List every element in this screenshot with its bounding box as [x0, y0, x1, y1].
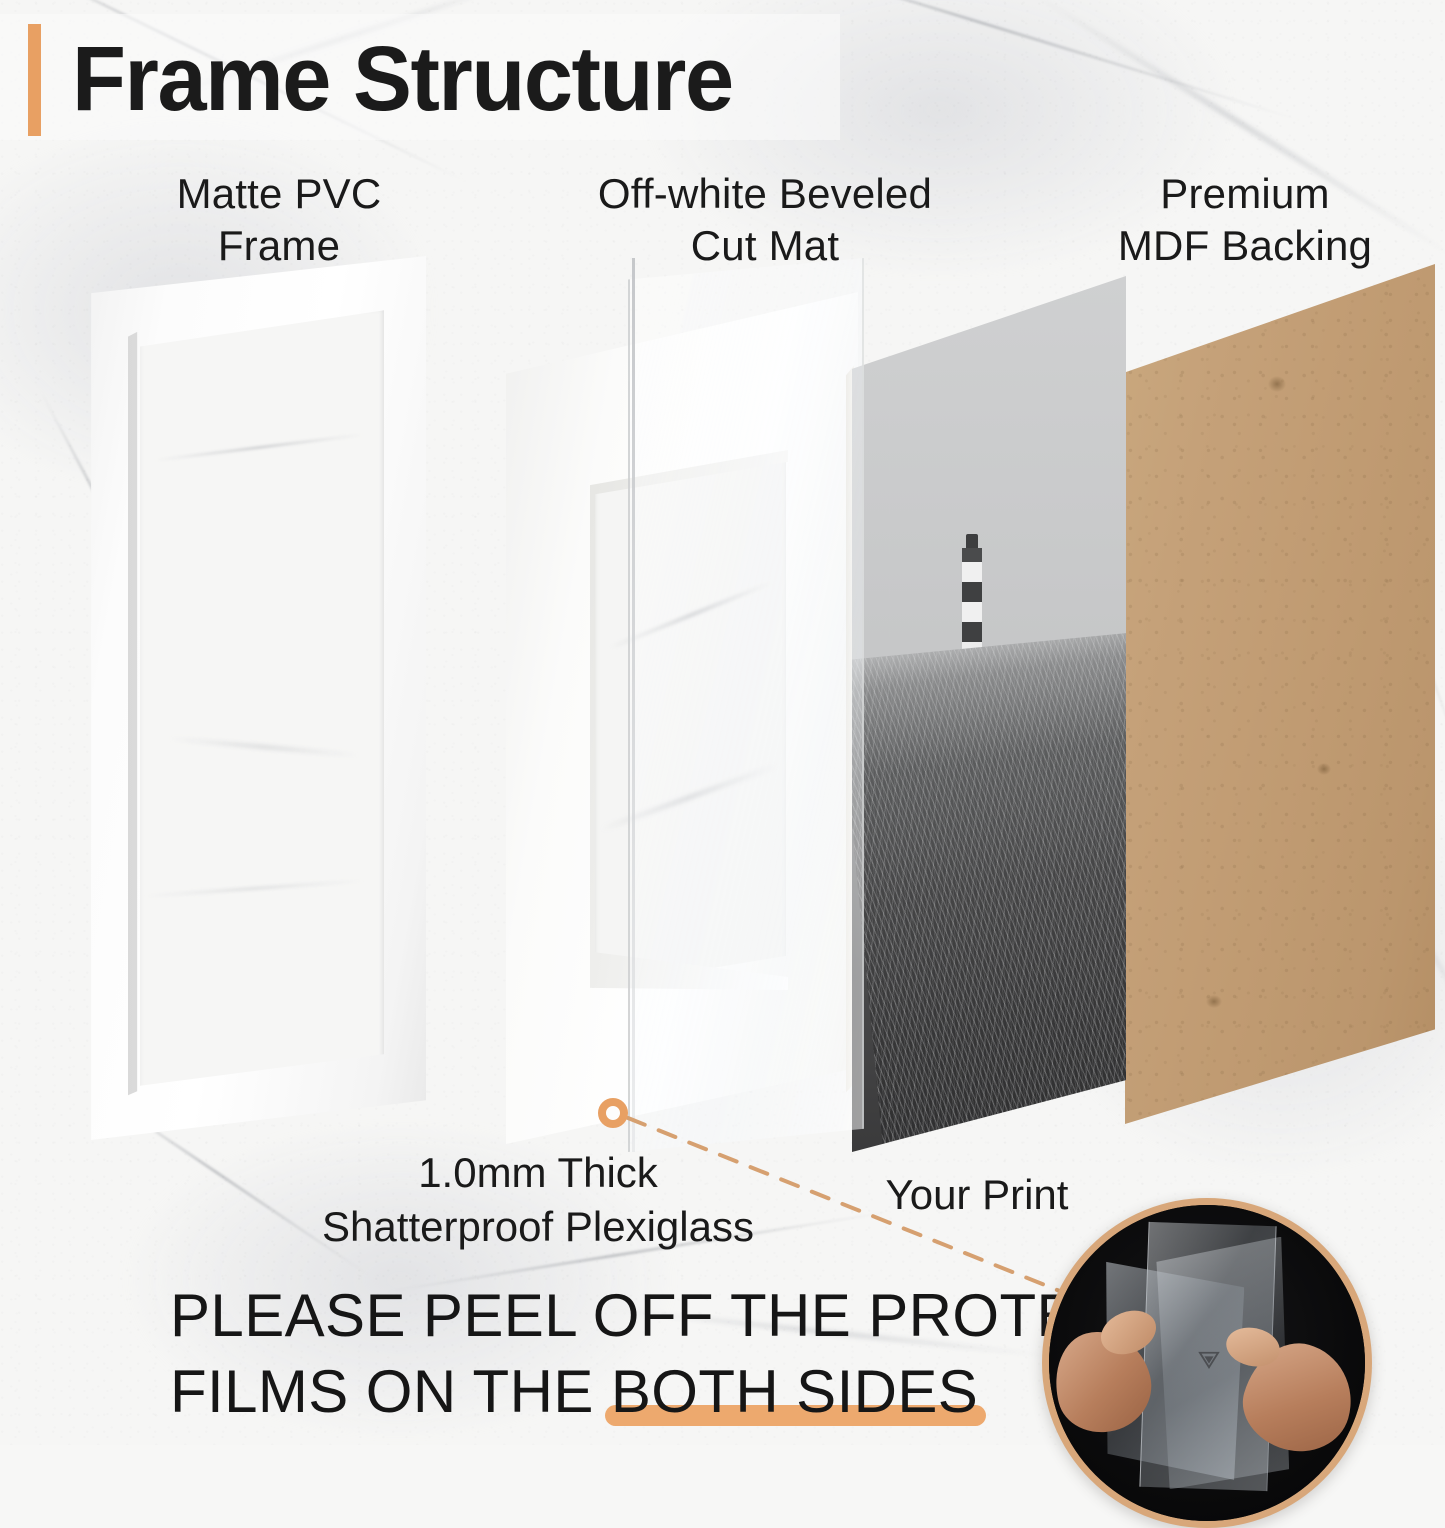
label-plexiglass: 1.0mm Thick Shatterproof Plexiglass	[278, 1146, 798, 1254]
label-line-2: Shatterproof Plexiglass	[278, 1200, 798, 1254]
layer-your-print	[852, 276, 1126, 1152]
notice-line-2-highlight: BOTH SIDES	[611, 1358, 978, 1425]
notice-line-2-prefix: FILMS ON THE	[170, 1358, 611, 1425]
layer-mdf-backing	[1125, 264, 1435, 1124]
label-line-2: Frame	[104, 220, 454, 272]
label-line-2: Cut Mat	[520, 220, 1010, 272]
label-matte-pvc-frame: Matte PVC Frame	[104, 168, 454, 272]
label-line-2: MDF Backing	[1050, 220, 1440, 272]
pvc-frame-opening	[134, 304, 384, 1092]
page-title: Frame Structure	[72, 20, 733, 138]
label-mdf-backing: Premium MDF Backing	[1050, 168, 1440, 272]
protective-film-notice: PLEASE PEEL OFF THE PROTECTIVE FILMS ON …	[170, 1278, 1040, 1430]
plexiglass-callout-dot-icon	[598, 1098, 628, 1128]
peel-film-photo-inset	[1042, 1198, 1372, 1528]
label-line-1: 1.0mm Thick	[278, 1146, 798, 1200]
label-line-1: Premium	[1050, 168, 1440, 220]
notice-line-1: PLEASE PEEL OFF THE PROTECTIVE	[170, 1278, 1040, 1354]
notice-line-2: FILMS ON THE BOTH SIDES	[170, 1354, 1040, 1430]
inset-film-logo-icon	[1198, 1350, 1220, 1370]
label-cut-mat: Off-white Beveled Cut Mat	[520, 168, 1010, 272]
layer-plexiglass	[628, 258, 864, 1152]
label-line-1: Matte PVC	[104, 168, 454, 220]
notice-highlight-wrap: BOTH SIDES	[611, 1354, 978, 1430]
title-accent-bar	[28, 24, 41, 136]
plexiglass-edge	[632, 258, 635, 1152]
label-line-1: Off-white Beveled	[520, 168, 1010, 220]
